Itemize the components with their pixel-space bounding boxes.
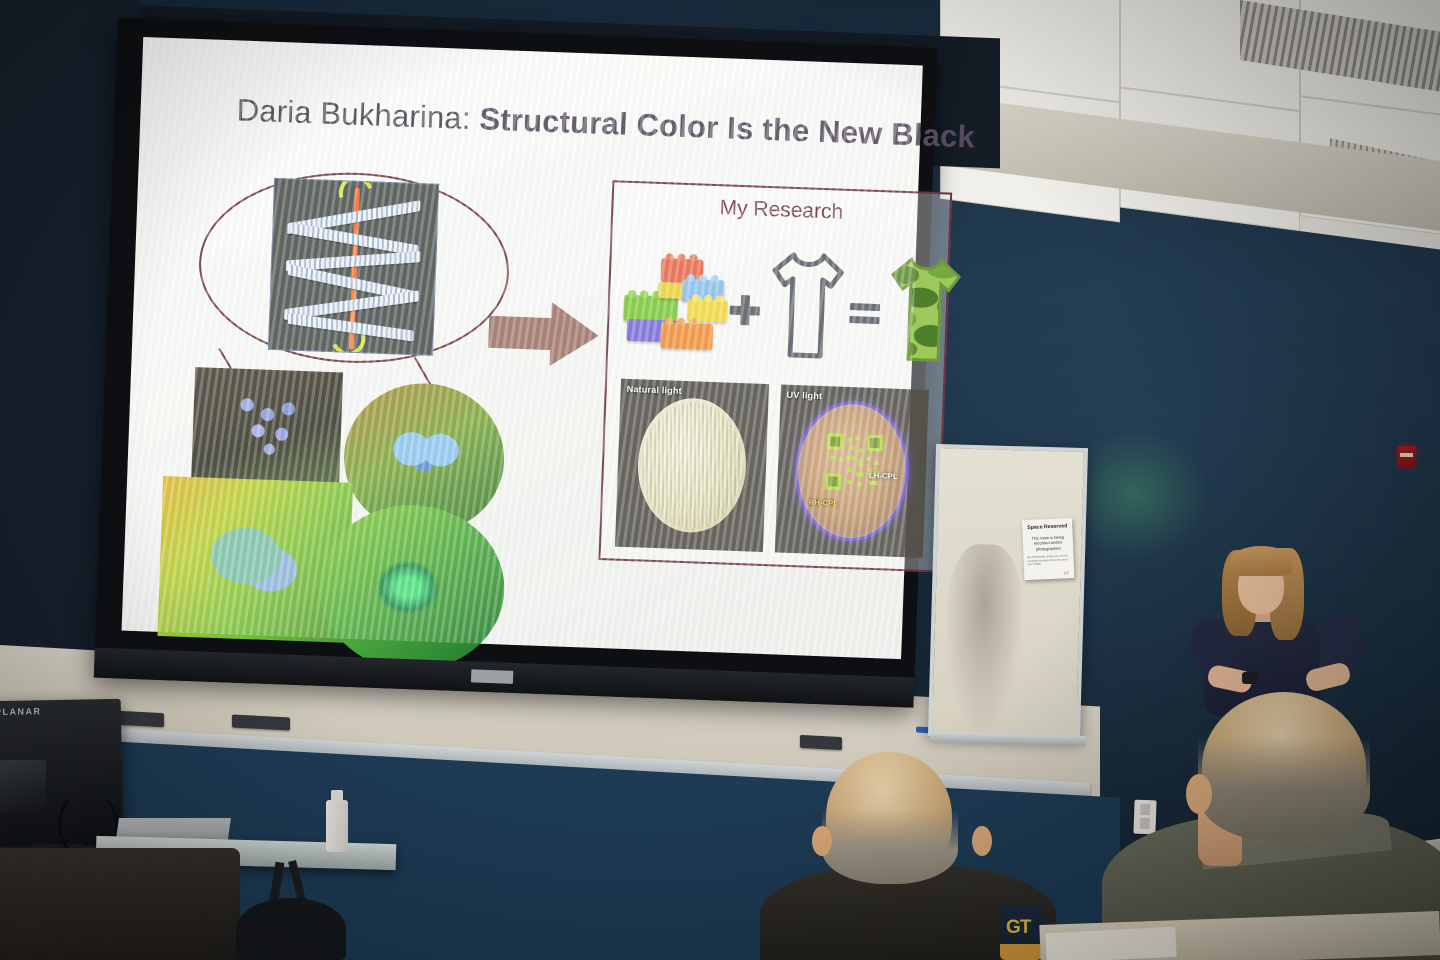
attendee-left-hair — [822, 810, 958, 884]
notice-body: This room is being recorded and/or photo… — [1027, 534, 1070, 552]
slide-title-name: Daria Bukharina: — [236, 92, 471, 136]
lego-bricks — [622, 249, 730, 357]
stool-seat — [236, 898, 346, 960]
whiteboard: Space Reserved This room is being record… — [928, 444, 1088, 740]
wafer-uv: LH-CPL RH-CPL — [795, 402, 908, 540]
qr-code — [825, 433, 883, 491]
attendee-right-ear — [1186, 774, 1212, 814]
mug-logo-text: GT — [1006, 917, 1030, 939]
photo-label-natural-light: Natural light — [627, 384, 682, 396]
bottle-cap — [331, 790, 343, 802]
presentation-clicker — [1242, 672, 1258, 684]
attendee-right-hair — [1198, 738, 1370, 842]
equals-icon — [849, 303, 880, 326]
projection-screen: Daria Bukharina: Structural Color Is the… — [94, 18, 938, 708]
plus-icon — [729, 295, 760, 326]
attendee-left-ear-right — [972, 826, 992, 856]
slide-title-topic: Structural Color Is the New Black — [470, 101, 976, 154]
podium — [0, 848, 240, 960]
notice-logo: GT — [1064, 570, 1070, 575]
photo-natural-light: Natural light — [615, 379, 769, 552]
research-photos: Natural light — [615, 379, 933, 558]
av-equipment — [0, 760, 46, 812]
research-equation — [620, 235, 941, 376]
attendee-foreground-left — [790, 752, 1020, 960]
paper-on-table — [1045, 927, 1176, 960]
label-rh-cpl: RH-CPL — [809, 498, 839, 508]
plain-t-shirt-icon — [760, 248, 854, 363]
spray-bottle — [326, 800, 348, 852]
attendee-left-ear-left — [812, 826, 832, 856]
presenter-hair-top — [1230, 546, 1292, 576]
eraser — [118, 711, 164, 727]
camouflage-t-shirt-icon — [878, 252, 972, 367]
screen-surface: Daria Bukharina: Structural Color Is the… — [122, 37, 923, 659]
slide: Daria Bukharina: Structural Color Is the… — [149, 56, 908, 611]
photo-label-uv-light: UV light — [786, 390, 822, 401]
my-research-panel: My Research — [598, 180, 952, 572]
lego-brick-orange — [660, 322, 713, 350]
monitor-brand-label: PLANAR — [0, 706, 42, 717]
photo-uv-light: LH-CPL RH-CPL UV light — [775, 385, 929, 558]
wafer-natural — [636, 396, 749, 534]
panel-heading: My Research — [613, 192, 950, 228]
fire-alarm-pull-station[interactable] — [1398, 446, 1416, 468]
speaker-shadow — [942, 543, 1025, 735]
arrow-shaft — [488, 316, 559, 351]
notice-title: Space Reserved — [1026, 523, 1068, 531]
notice-fine-print: By entering this space you consent to be… — [1027, 554, 1069, 566]
label-lh-cpl: LH-CPL — [869, 471, 898, 481]
process-arrow — [488, 300, 600, 368]
arrow-head — [550, 302, 600, 368]
helicoidal-nanostructure-diagram — [268, 178, 439, 356]
alarm-plate — [1400, 453, 1413, 457]
slide-title: Daria Bukharina: Structural Color Is the… — [236, 92, 937, 154]
gt-mug: GT — [1000, 905, 1042, 960]
screen-brand-label — [471, 669, 513, 684]
stool-leg — [276, 940, 285, 960]
eraser-tertiary — [800, 735, 842, 750]
space-reserved-notice: Space Reserved This room is being record… — [1022, 518, 1074, 580]
mug-liquid — [1000, 944, 1042, 960]
lecture-hall-scene: Daria Bukharina: Structural Color Is the… — [0, 0, 1440, 960]
